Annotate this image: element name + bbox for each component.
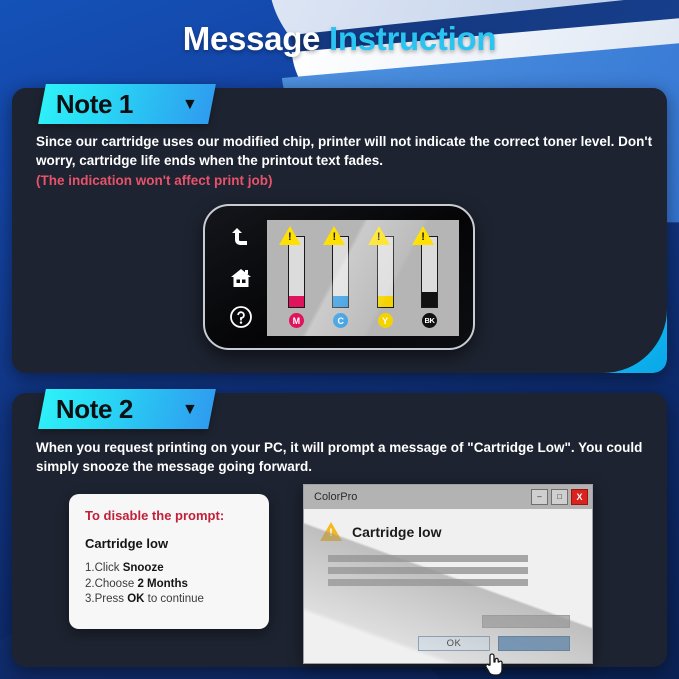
card-step-2-prefix: 2.Choose xyxy=(85,578,137,590)
warning-triangle-icon xyxy=(279,226,301,245)
card-step-3-bold: OK xyxy=(127,593,144,605)
warning-triangle-icon xyxy=(323,226,345,245)
ink-tube xyxy=(288,236,305,308)
ink-tube xyxy=(332,236,349,308)
ink-tube xyxy=(421,236,438,308)
dialog-header: Cartridge low xyxy=(304,509,592,541)
page-header: Message Instruction xyxy=(0,0,679,78)
note-2-body: When you request printing on your PC, it… xyxy=(36,438,662,476)
ink-badge-cyan: C xyxy=(333,313,348,328)
ink-fill xyxy=(333,296,348,307)
ink-fill xyxy=(378,296,393,307)
warning-triangle-icon xyxy=(320,522,342,541)
poster-root: Message Instruction Note 1 ▼ Since our c… xyxy=(0,0,679,679)
note-2-tab-label: Note 2 xyxy=(56,394,133,425)
note-1-text: Since our cartridge uses our modified ch… xyxy=(36,134,652,168)
note-1-body: Since our cartridge uses our modified ch… xyxy=(36,132,662,190)
close-icon[interactable]: X xyxy=(571,489,588,505)
ink-fill xyxy=(289,296,304,307)
note-1-tab-label: Note 1 xyxy=(56,89,133,120)
secondary-button[interactable] xyxy=(498,636,570,651)
note-1-tab[interactable]: Note 1 ▼ xyxy=(38,84,216,124)
disable-prompt-card: To disable the prompt: Cartridge low 1.C… xyxy=(69,494,269,629)
note-1-disclaimer: (The indication won't affect print job) xyxy=(36,171,662,190)
dialog-window-title: ColorPro xyxy=(314,491,357,503)
card-step-1-prefix: 1.Click xyxy=(85,562,123,574)
ink-badge-yellow: Y xyxy=(378,313,393,328)
printer-control-panel: MCYBK xyxy=(203,204,475,350)
dialog-placeholder-lines xyxy=(328,555,528,586)
card-step-1: 1.Click Snooze xyxy=(85,561,253,577)
ink-badge-magenta: M xyxy=(289,313,304,328)
help-icon[interactable] xyxy=(229,305,253,329)
card-step-3: 3.Press OK to continue xyxy=(85,592,253,608)
ink-gauge-yellow: Y xyxy=(370,236,400,336)
warning-triangle-icon xyxy=(368,226,390,245)
chevron-down-icon: ▼ xyxy=(182,96,198,112)
card-title: To disable the prompt: xyxy=(85,508,253,523)
dialog-title-bar[interactable]: ColorPro – □ X xyxy=(304,485,592,509)
card-step-3-prefix: 3.Press xyxy=(85,593,127,605)
dialog-footer: OK xyxy=(304,636,592,651)
card-step-1-bold: Snooze xyxy=(123,562,164,574)
ink-gauge-cyan: C xyxy=(326,236,356,336)
dialog-dropdown-placeholder[interactable] xyxy=(482,615,570,628)
page-title: Message Instruction xyxy=(0,20,679,58)
ink-gauge-magenta: M xyxy=(281,236,311,336)
hand-cursor-icon xyxy=(484,651,504,677)
note-2-text: When you request printing on your PC, it… xyxy=(36,440,642,474)
placeholder-line xyxy=(328,555,528,562)
page-title-part2: Instruction xyxy=(329,20,496,57)
placeholder-line xyxy=(328,567,528,574)
ink-tube xyxy=(377,236,394,308)
ok-button[interactable]: OK xyxy=(418,636,490,651)
card-steps: 1.Click Snooze 2.Choose 2 Months 3.Press… xyxy=(85,561,253,608)
maximize-icon[interactable]: □ xyxy=(551,489,568,505)
ink-level-gauges: MCYBK xyxy=(267,220,459,336)
printer-key-column xyxy=(219,220,263,336)
home-icon[interactable] xyxy=(229,266,253,290)
card-subtitle: Cartridge low xyxy=(85,536,253,551)
ink-gauge-black: BK xyxy=(415,236,445,336)
ink-fill xyxy=(422,292,437,307)
card-step-2-bold: 2 Months xyxy=(137,578,187,590)
minimize-icon[interactable]: – xyxy=(531,489,548,505)
page-title-part1: Message xyxy=(183,20,320,57)
placeholder-line xyxy=(328,579,528,586)
chevron-down-icon: ▼ xyxy=(182,401,198,417)
warning-triangle-icon xyxy=(412,226,434,245)
back-arrow-icon[interactable] xyxy=(229,227,253,251)
printer-screen: MCYBK xyxy=(267,220,459,336)
cartridge-low-dialog: ColorPro – □ X Cartridge low OK xyxy=(303,484,593,664)
card-step-3-suffix: to continue xyxy=(144,593,203,605)
ink-badge-black: BK xyxy=(422,313,437,328)
dialog-message: Cartridge low xyxy=(352,524,441,540)
note-2-tab[interactable]: Note 2 ▼ xyxy=(38,389,216,429)
window-controls: – □ X xyxy=(531,489,588,505)
card-step-2: 2.Choose 2 Months xyxy=(85,577,253,593)
